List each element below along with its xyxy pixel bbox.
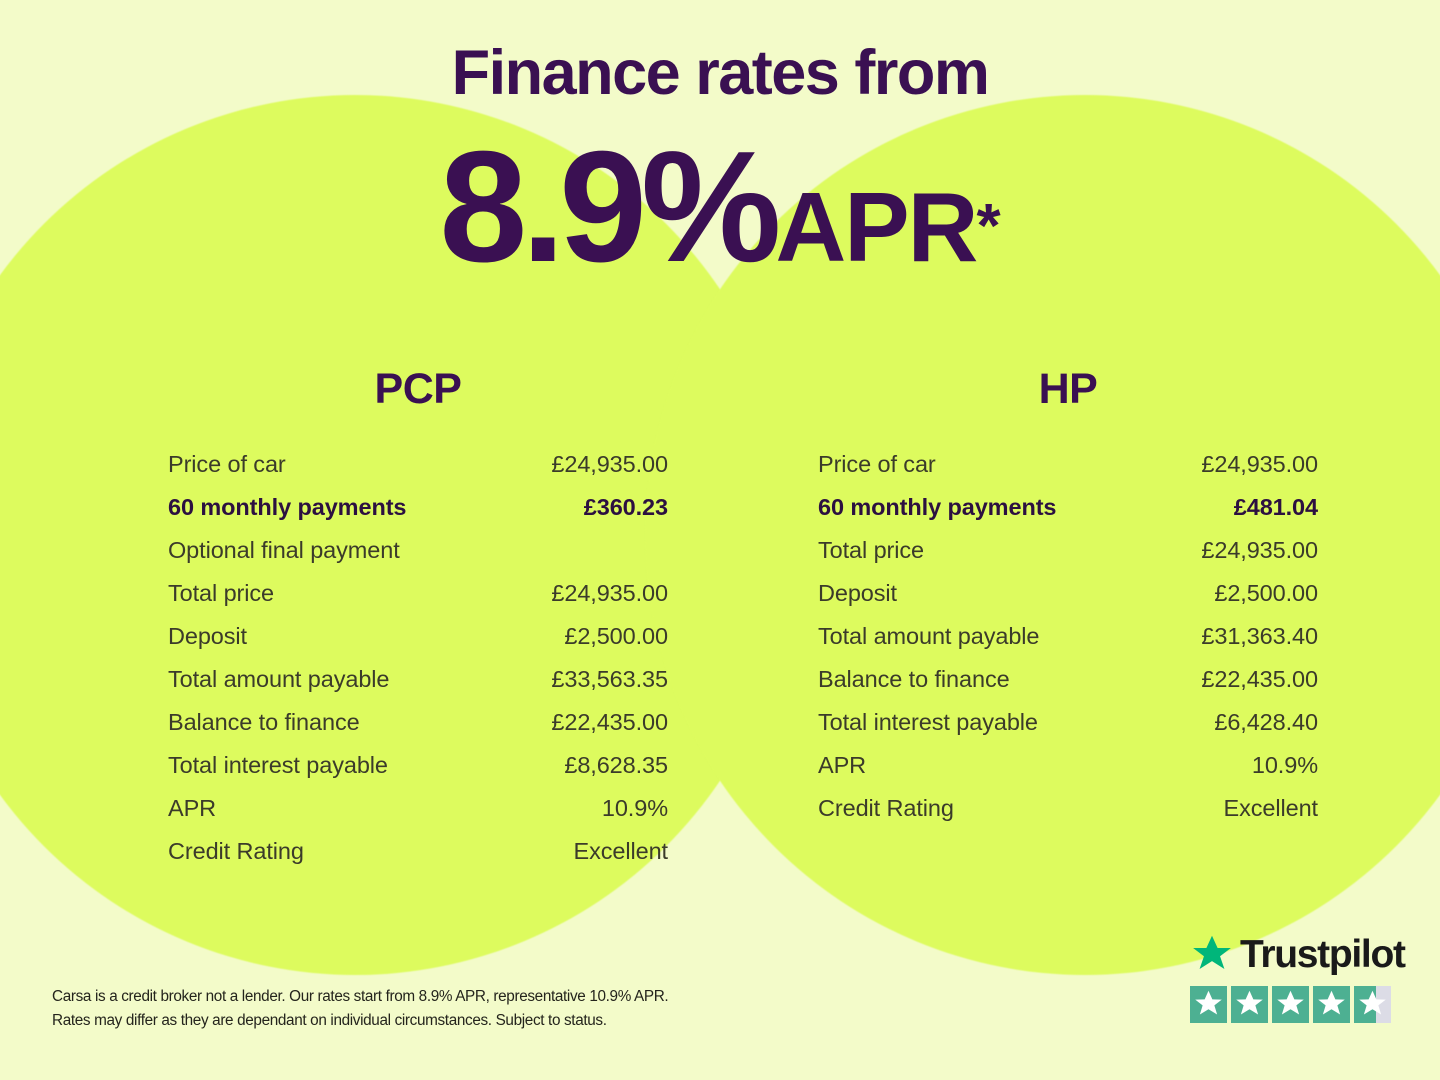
row-label: Total interest payable [168, 752, 388, 779]
trustpilot-wordmark: Trustpilot [1240, 935, 1405, 974]
rating-star-icon [1272, 986, 1309, 1023]
row-value: £22,435.00 [1201, 666, 1318, 693]
row-label: Balance to finance [168, 709, 360, 736]
row-value: Excellent [1224, 795, 1318, 822]
table-row: Optional final payment [168, 537, 668, 580]
table-row: APR10.9% [168, 795, 668, 838]
plan-title-hp: HP [818, 368, 1318, 411]
rating-star-icon [1354, 986, 1391, 1023]
table-row: APR10.9% [818, 752, 1318, 795]
row-value: £33,563.35 [551, 666, 668, 693]
apr-headline: 8.9%APR* [0, 128, 1440, 286]
row-label: Deposit [818, 580, 897, 607]
row-label: Total amount payable [168, 666, 389, 693]
table-row: Price of car£24,935.00 [818, 451, 1318, 494]
row-value: £2,500.00 [1214, 580, 1318, 607]
row-label: Price of car [818, 451, 936, 478]
table-row: Balance to finance£22,435.00 [168, 709, 668, 752]
row-label: Total price [818, 537, 924, 564]
rating-star-icon [1190, 986, 1227, 1023]
row-value: Excellent [574, 838, 668, 865]
row-value: £22,435.00 [551, 709, 668, 736]
row-value: £24,935.00 [551, 580, 668, 607]
plan-rows-pcp: Price of car£24,935.0060 monthly payment… [168, 451, 668, 881]
table-row: Total amount payable£33,563.35 [168, 666, 668, 709]
trustpilot-logo: Trustpilot [1190, 930, 1398, 978]
row-label: Price of car [168, 451, 286, 478]
rating-star-icon [1231, 986, 1268, 1023]
plan-card-pcp: PCP Price of car£24,935.0060 monthly pay… [168, 368, 668, 881]
row-value: £2,500.00 [564, 623, 668, 650]
row-value: £6,428.40 [1214, 709, 1318, 736]
row-label: Optional final payment [168, 537, 400, 564]
table-row: Total interest payable£8,628.35 [168, 752, 668, 795]
row-value: £24,935.00 [1201, 537, 1318, 564]
plan-title-pcp: PCP [168, 368, 668, 411]
row-label: Credit Rating [818, 795, 954, 822]
table-row: Total price£24,935.00 [818, 537, 1318, 580]
apr-asterisk: * [976, 192, 1000, 261]
table-row: Balance to finance£22,435.00 [818, 666, 1318, 709]
row-label: Total amount payable [818, 623, 1039, 650]
page-title: Finance rates from [0, 42, 1440, 105]
table-row: Total price£24,935.00 [168, 580, 668, 623]
trustpilot-star-icon [1190, 933, 1234, 975]
row-label: APR [818, 752, 866, 779]
table-row: 60 monthly payments£360.23 [168, 494, 668, 537]
row-value: £24,935.00 [551, 451, 668, 478]
table-row: Deposit£2,500.00 [168, 623, 668, 666]
row-value: £24,935.00 [1201, 451, 1318, 478]
disclaimer-text: Carsa is a credit broker not a lender. O… [52, 985, 812, 1032]
apr-unit-label: APR [776, 172, 977, 282]
trustpilot-rating-stars [1190, 986, 1398, 1023]
table-row: Credit RatingExcellent [168, 838, 668, 881]
row-label: Total price [168, 580, 274, 607]
row-label: Total interest payable [818, 709, 1038, 736]
table-row: Credit RatingExcellent [818, 795, 1318, 838]
rating-star-icon [1313, 986, 1350, 1023]
plan-card-hp: HP Price of car£24,935.0060 monthly paym… [818, 368, 1318, 838]
trustpilot-widget[interactable]: Trustpilot [1190, 930, 1398, 1023]
row-value: £8,628.35 [564, 752, 668, 779]
row-label: Deposit [168, 623, 247, 650]
row-value: 10.9% [602, 795, 668, 822]
row-value: £360.23 [584, 494, 668, 521]
apr-rate-value: 8.9% [439, 119, 775, 295]
row-value: £481.04 [1234, 494, 1318, 521]
row-value: £31,363.40 [1201, 623, 1318, 650]
disclaimer-line-1: Carsa is a credit broker not a lender. O… [52, 985, 812, 1009]
table-row: Total amount payable£31,363.40 [818, 623, 1318, 666]
row-label: Credit Rating [168, 838, 304, 865]
table-row: Price of car£24,935.00 [168, 451, 668, 494]
disclaimer-line-2: Rates may differ as they are dependant o… [52, 1009, 812, 1033]
row-label: 60 monthly payments [818, 494, 1056, 521]
table-row: Deposit£2,500.00 [818, 580, 1318, 623]
row-value: 10.9% [1252, 752, 1318, 779]
table-row: Total interest payable£6,428.40 [818, 709, 1318, 752]
row-label: Balance to finance [818, 666, 1010, 693]
row-label: APR [168, 795, 216, 822]
row-label: 60 monthly payments [168, 494, 406, 521]
plan-rows-hp: Price of car£24,935.0060 monthly payment… [818, 451, 1318, 838]
table-row: 60 monthly payments£481.04 [818, 494, 1318, 537]
